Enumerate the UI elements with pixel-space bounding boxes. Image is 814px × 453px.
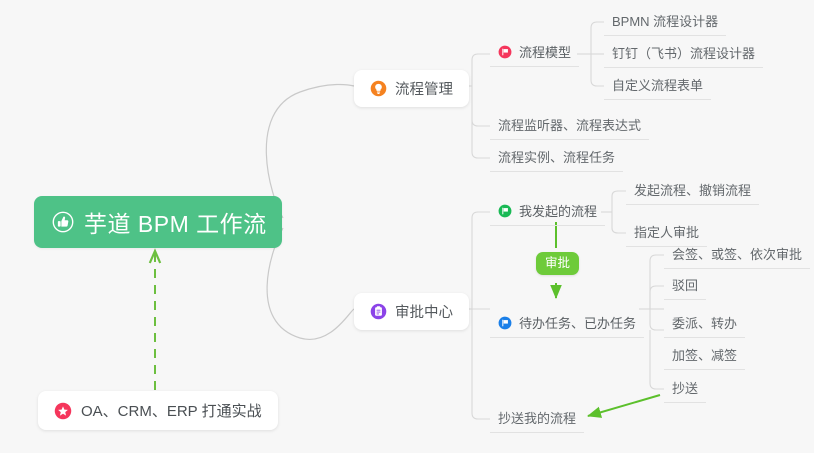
node-process-instance[interactable]: 流程实例、流程任务 <box>490 145 623 172</box>
link-mine-to-assignee <box>612 212 626 233</box>
root-node-label: 芋道 BPM 工作流 <box>84 205 267 239</box>
branch-node-process-management[interactable]: 流程管理 <box>354 70 469 107</box>
link-pm-to-process-model <box>472 54 490 86</box>
node-label-process-listener: 流程监听器、流程表达式 <box>498 115 641 134</box>
node-label-my-initiated-process: 我发起的流程 <box>519 201 597 220</box>
node-process-listener[interactable]: 流程监听器、流程表达式 <box>490 113 649 140</box>
floating-card-label: OA、CRM、ERP 打通实战 <box>81 400 262 421</box>
node-delegate-transfer[interactable]: 委派、转办 <box>664 311 745 338</box>
node-label-start-cancel-process: 发起流程、撤销流程 <box>634 180 751 199</box>
link-ac-to-my-process <box>472 212 490 309</box>
node-label-todo-done-tasks: 待办任务、已办任务 <box>519 313 636 332</box>
node-label-delegate-transfer: 委派、转办 <box>672 313 737 332</box>
link-todo-to-cc <box>650 330 664 389</box>
clipboard-icon <box>370 303 387 320</box>
link-model-to-bpmn <box>591 22 604 54</box>
lightbulb-icon <box>370 80 387 97</box>
node-countersign[interactable]: 会签、或签、依次审批 <box>664 242 810 269</box>
branch-label-process-management: 流程管理 <box>395 78 453 99</box>
node-dingtalk-designer[interactable]: 钉钉（飞书）流程设计器 <box>604 41 763 68</box>
node-process-model[interactable]: 流程模型 <box>490 40 579 67</box>
branch-node-approval-center[interactable]: 审批中心 <box>354 293 469 330</box>
node-cc-to-me-process[interactable]: 抄送我的流程 <box>490 406 584 433</box>
node-add-remove-sign[interactable]: 加签、减签 <box>664 343 745 370</box>
flag-icon-green <box>498 204 512 218</box>
node-label-bpmn-designer: BPMN 流程设计器 <box>612 11 718 30</box>
node-cc[interactable]: 抄送 <box>664 376 706 403</box>
mindmap-canvas: 芋道 BPM 工作流 流程管理 流程模型 BPMN 流程设计器 钉钉（飞书 <box>0 0 814 453</box>
cc-arrow <box>588 395 660 416</box>
floating-card-integration[interactable]: OA、CRM、ERP 打通实战 <box>38 391 278 430</box>
link-pm-to-listener <box>472 86 490 126</box>
approval-tag-badge: 审批 <box>536 252 579 275</box>
link-mine-to-start <box>612 191 626 212</box>
node-label-custom-form: 自定义流程表单 <box>612 75 703 94</box>
node-label-process-model: 流程模型 <box>519 42 571 61</box>
node-label-cc: 抄送 <box>672 378 698 397</box>
node-custom-form[interactable]: 自定义流程表单 <box>604 73 711 100</box>
link-todo-to-addsign <box>650 309 664 330</box>
link-todo-to-countersign <box>650 255 664 309</box>
node-label-add-remove-sign: 加签、减签 <box>672 345 737 364</box>
branch-label-approval-center: 审批中心 <box>395 301 453 322</box>
node-label-assignee-approval: 指定人审批 <box>634 222 699 241</box>
node-my-initiated-process[interactable]: 我发起的流程 <box>490 199 605 226</box>
node-start-cancel-process[interactable]: 发起流程、撤销流程 <box>626 178 759 205</box>
link-ac-to-cc-process <box>472 309 490 419</box>
flag-icon-blue <box>498 316 512 330</box>
link-todo-to-reject <box>650 286 664 309</box>
root-node[interactable]: 芋道 BPM 工作流 <box>34 196 282 248</box>
star-icon <box>54 402 72 420</box>
node-bpmn-designer[interactable]: BPMN 流程设计器 <box>604 9 726 36</box>
node-label-process-instance: 流程实例、流程任务 <box>498 147 615 166</box>
link-model-to-custom-form <box>591 54 604 86</box>
node-label-dingtalk-designer: 钉钉（飞书）流程设计器 <box>612 43 755 62</box>
flag-icon-red <box>498 45 512 59</box>
thumbs-up-icon <box>52 211 74 233</box>
node-todo-done-tasks[interactable]: 待办任务、已办任务 <box>490 311 644 338</box>
link-pm-to-instance <box>472 120 490 158</box>
node-label-reject: 驳回 <box>672 275 698 294</box>
node-reject[interactable]: 驳回 <box>664 273 706 300</box>
node-label-countersign: 会签、或签、依次审批 <box>672 244 802 263</box>
node-label-cc-to-me-process: 抄送我的流程 <box>498 408 576 427</box>
